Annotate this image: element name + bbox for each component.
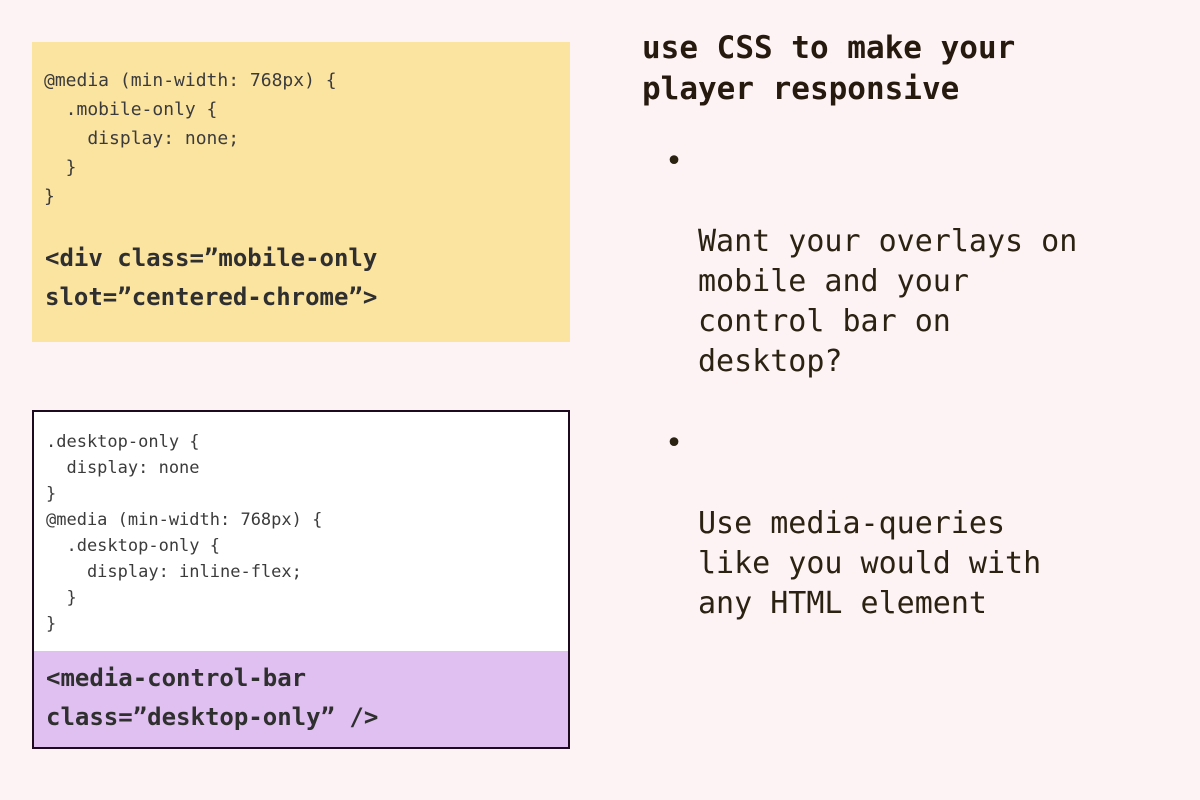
slide-heading: use CSS to make your player responsive xyxy=(642,28,1182,110)
list-item-text: Use media-queries like you would with an… xyxy=(698,506,1041,621)
right-column: use CSS to make your player responsive •… xyxy=(642,28,1182,666)
white-card-css-code: .desktop-only { display: none } @media (… xyxy=(46,429,554,637)
list-item-text: Want your overlays on mobile and your co… xyxy=(698,224,1077,379)
yellow-card-html-snippet: <div class=”mobile-only slot=”centered-c… xyxy=(44,239,556,317)
list-item: • Use media-queries like you would with … xyxy=(642,424,1182,624)
purple-highlight-band: <media-control-bar class=”desktop-only” … xyxy=(34,651,568,747)
purple-band-html-snippet: <media-control-bar class=”desktop-only” … xyxy=(46,659,554,737)
bullet-list: • Want your overlays on mobile and your … xyxy=(642,142,1182,624)
bullet-dot-icon: • xyxy=(665,142,683,182)
yellow-card-css-code: @media (min-width: 768px) { .mobile-only… xyxy=(44,66,556,211)
white-card-code-area: .desktop-only { display: none } @media (… xyxy=(34,412,568,651)
list-item: • Want your overlays on mobile and your … xyxy=(642,142,1182,382)
slide-root: @media (min-width: 768px) { .mobile-only… xyxy=(0,0,1200,800)
left-column: @media (min-width: 768px) { .mobile-only… xyxy=(32,42,570,342)
bullet-dot-icon: • xyxy=(665,424,683,464)
yellow-code-card: @media (min-width: 768px) { .mobile-only… xyxy=(32,42,570,342)
white-code-card: .desktop-only { display: none } @media (… xyxy=(32,410,570,749)
